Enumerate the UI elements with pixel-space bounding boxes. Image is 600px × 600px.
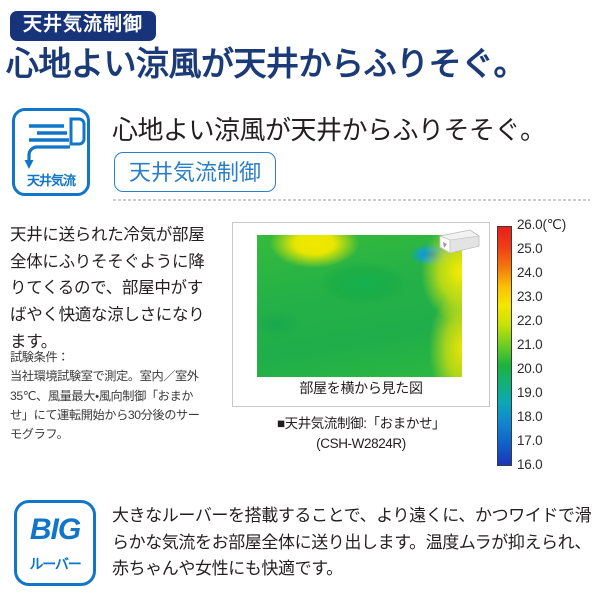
temperature-tick-label: 22.0 [517,313,542,328]
thermograph-heatmap [257,235,462,377]
test-conditions-title: 試験条件： [10,350,69,364]
feature-tag: 天井気流制御 [114,152,276,192]
ceiling-airflow-icon-label: 天井気流 [15,170,87,189]
temperature-tick-label: 24.0 [517,265,542,280]
temperature-tick-label: 26.0(℃) [517,217,566,233]
thermograph-panel: 部屋を横から見た図 [232,222,490,407]
big-louver-icon-label: ルーバー [17,554,93,574]
temperature-tick-label: 21.0 [517,337,542,352]
big-louver-icon-title: BIG [17,515,93,545]
temperature-tick-label: 25.0 [517,241,542,256]
thermograph-caption-line1: ■天井気流制御:「おまかせ」 [232,414,490,434]
temperature-tick-label: 19.0 [517,385,542,400]
test-conditions-body: 当社環境試験室で測定。室内／室外35℃、風量最大・風向制御「おまかせ」にて運転開… [10,369,200,441]
thermograph-image [257,235,462,377]
big-louver-icon: BIG ルーバー [14,500,96,586]
temperature-scale-legend: 26.0(℃)25.024.023.022.021.020.019.018.01… [497,224,596,470]
big-louver-description: 大きなルーバーを搭載することで、より遠くに、かつワイドで滑らかな気流をお部屋全体… [112,503,594,583]
thermograph-caption: ■天井気流制御:「おまかせ」 (CSH-W2824R) [232,414,490,453]
thermograph-inner-caption: 部屋を横から見た図 [233,378,489,398]
air-conditioner-unit [434,229,480,255]
ceiling-airflow-icon: 天井気流 [12,108,90,196]
temperature-scale-labels: 26.0(℃)25.024.023.022.021.020.019.018.01… [517,224,596,470]
temperature-tick-label: 18.0 [517,409,542,424]
temperature-tick-label: 23.0 [517,289,542,304]
thermograph-caption-line2: (CSH-W2824R) [232,434,490,454]
dotted-divider [112,199,590,201]
product-feature-page: 天井気流制御 心地よい涼風が天井からふりそぐ。 天井気流 心地よい涼風が天井から… [0,0,600,600]
section-badge: 天井気流制御 [10,11,156,41]
feature-subheadline: 心地よい涼風が天井からふりそそぐ。 [112,110,546,147]
feature-description: 天井に送られた冷気が部屋全体にふりそそぐように降りてくるので、部屋中がすばやく快… [10,222,215,356]
temperature-tick-label: 20.0 [517,361,542,376]
page-title: 心地よい涼風が天井からふりそぐ。 [6,45,526,83]
temperature-tick-label: 16.0 [517,457,542,472]
test-conditions: 試験条件： 当社環境試験室で測定。室内／室外35℃、風量最大・風向制御「おまかせ… [10,348,210,444]
temperature-gradient-bar [497,226,512,466]
ceiling-airflow-glyph [15,113,87,175]
temperature-tick-label: 17.0 [517,433,542,448]
